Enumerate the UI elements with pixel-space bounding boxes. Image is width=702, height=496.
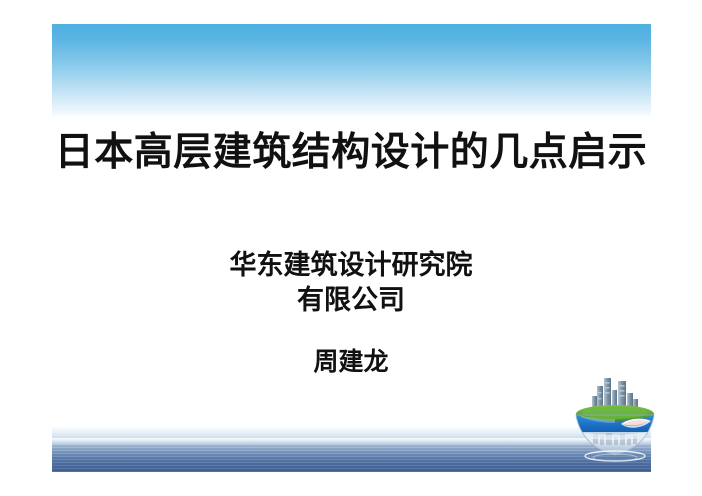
water-gradient-band xyxy=(52,426,651,472)
glass-globe-city-logo xyxy=(569,374,661,462)
credits-block: 华东建筑设计研究院 有限公司 周建龙 xyxy=(0,248,702,378)
organization-line-2: 有限公司 xyxy=(0,283,702,318)
page-title: 日本高层建筑结构设计的几点启示 xyxy=(0,128,702,176)
organization-line-1: 华东建筑设计研究院 xyxy=(0,248,702,283)
sky-gradient-band xyxy=(52,24,651,120)
presentation-title-slide: 日本高层建筑结构设计的几点启示 华东建筑设计研究院 有限公司 周建龙 xyxy=(0,0,702,496)
